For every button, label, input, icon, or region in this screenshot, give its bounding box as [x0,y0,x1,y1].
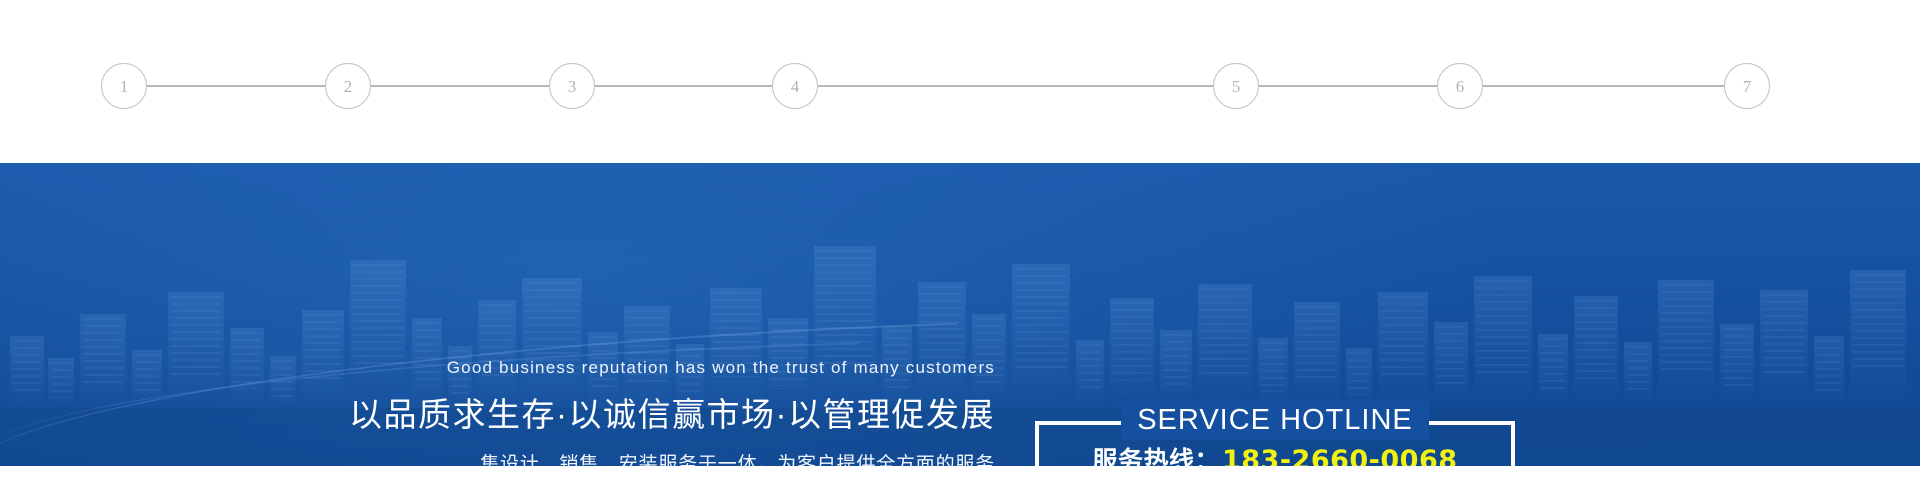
step-node-3[interactable]: 3 [549,63,595,109]
service-hotline-box: SERVICE HOTLINE 服务热线： 183-2660-0068 0551… [1035,421,1515,466]
step-label: 3 [568,78,577,95]
slogan-subline: 集设计、销售、安装服务于一体，为客户提供全方面的服务 [0,455,995,466]
hotline-phone-primary[interactable]: 183-2660-0068 [1222,447,1458,466]
step-navigation: 1 2 3 4 5 6 7 [0,0,1920,163]
slogan-english: Good business reputation has won the tru… [0,359,995,376]
step-label: 2 [344,78,353,95]
step-label: 1 [120,78,129,95]
slogan-headline: 以品质求生存·以诚信赢市场·以管理促发展 [0,398,995,431]
slogan-block: Good business reputation has won the tru… [0,359,1035,466]
hotline-numbers: 服务热线： 183-2660-0068 0551-63749777 [1035,447,1515,466]
step-node-2[interactable]: 2 [325,63,371,109]
step-node-1[interactable]: 1 [101,63,147,109]
step-node-5[interactable]: 5 [1213,63,1259,109]
hotline-title: SERVICE HOTLINE [1121,400,1429,440]
step-label: 4 [791,78,800,95]
step-node-4[interactable]: 4 [772,63,818,109]
step-label: 5 [1232,78,1241,95]
step-node-7[interactable]: 7 [1724,63,1770,109]
hotline-title-wrap: SERVICE HOTLINE [1035,400,1515,440]
page-root: 1 2 3 4 5 6 7 [0,0,1920,500]
hotline-label: 服务热线： [1092,449,1220,466]
hotline-primary-row: 服务热线： 183-2660-0068 [1035,447,1515,466]
step-label: 6 [1456,78,1465,95]
step-label: 7 [1743,78,1752,95]
hero-banner: Good business reputation has won the tru… [0,163,1920,466]
step-node-6[interactable]: 6 [1437,63,1483,109]
